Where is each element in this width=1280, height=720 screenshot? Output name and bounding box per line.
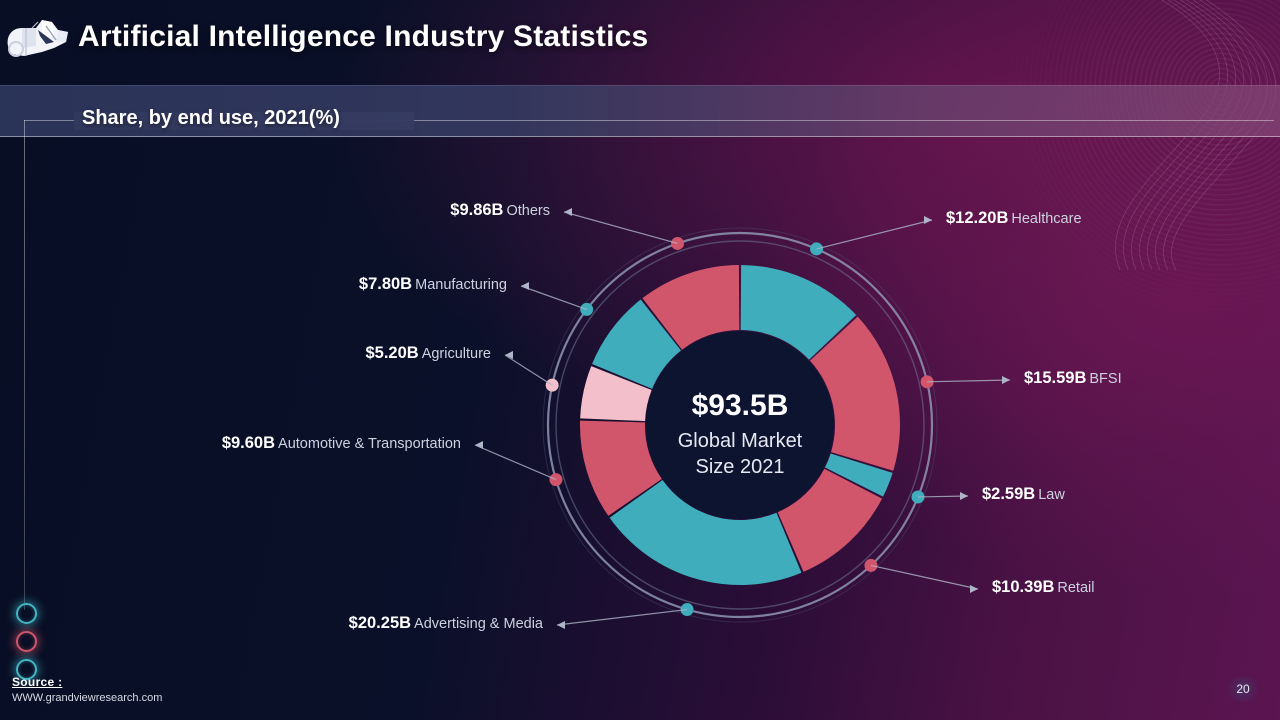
- label-name: Advertising & Media: [414, 616, 543, 632]
- chart-label-advertising-media: $20.25BAdvertising & Media: [0, 614, 543, 633]
- label-name: Agriculture: [422, 346, 491, 362]
- chart-label-law: $2.59BLaw: [982, 485, 1065, 504]
- source-url: WWW.grandviewresearch.com: [12, 692, 162, 706]
- chart-label-bfsi: $15.59BBFSI: [1024, 369, 1122, 388]
- label-name: Manufacturing: [415, 277, 507, 293]
- slide-header: Artificial Intelligence Industry Statist…: [0, 0, 1280, 85]
- chart-label-automotive-transportation: $9.60BAutomotive & Transportation: [0, 434, 461, 453]
- chart-subtitle: Share, by end use, 2021(%): [82, 107, 348, 130]
- chart-label-others: $9.86BOthers: [0, 201, 550, 220]
- label-value: $20.25B: [349, 614, 411, 632]
- label-value: $2.59B: [982, 485, 1035, 503]
- page-number: 20: [1224, 676, 1262, 702]
- center-value: $93.5B: [692, 389, 789, 422]
- left-vertical-rule: [24, 120, 25, 610]
- label-name: Healthcare: [1011, 211, 1081, 227]
- label-value: $5.20B: [365, 344, 418, 362]
- label-name: Automotive & Transportation: [278, 436, 461, 452]
- robot-hand-icon: [2, 6, 76, 72]
- center-line-1: Global Market: [678, 430, 803, 452]
- donut-chart: $93.5BGlobal MarketSize 2021: [540, 225, 940, 625]
- label-value: $12.20B: [946, 209, 1008, 227]
- label-value: $15.59B: [1024, 369, 1086, 387]
- page-title: Artificial Intelligence Industry Statist…: [78, 20, 648, 54]
- chart-label-agriculture: $5.20BAgriculture: [0, 344, 491, 363]
- donut-hub: [646, 331, 834, 519]
- label-value: $7.80B: [359, 275, 412, 293]
- chart-label-retail: $10.39BRetail: [992, 578, 1094, 597]
- chart-label-manufacturing: $7.80BManufacturing: [0, 275, 507, 294]
- label-name: BFSI: [1089, 371, 1121, 387]
- label-name: Law: [1038, 487, 1065, 503]
- center-line-2: Size 2021: [696, 456, 785, 478]
- source-note: Source : WWW.grandviewresearch.com: [12, 675, 162, 706]
- ring-dot-red: [16, 631, 37, 652]
- label-value: $10.39B: [992, 578, 1054, 596]
- chart-label-healthcare: $12.20BHealthcare: [946, 209, 1082, 228]
- label-name: Others: [506, 203, 550, 219]
- label-value: $9.86B: [450, 201, 503, 219]
- label-value: $9.60B: [222, 434, 275, 452]
- source-label: Source :: [12, 675, 162, 690]
- label-name: Retail: [1057, 580, 1094, 596]
